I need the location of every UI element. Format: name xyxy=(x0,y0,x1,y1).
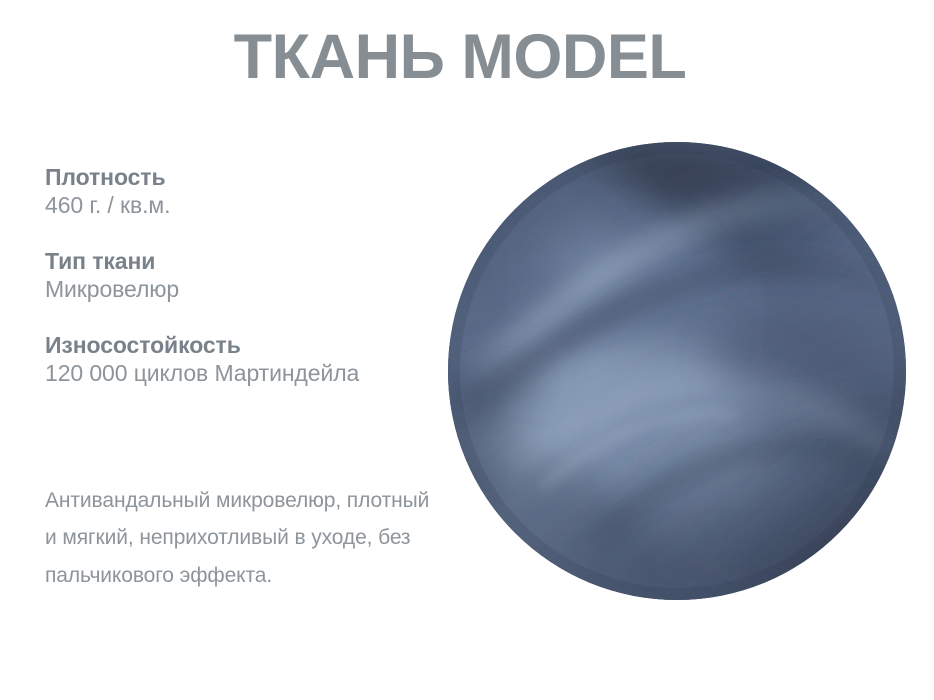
fabric-texture-illustration xyxy=(448,142,906,600)
spec-value-fabric-type: Микровелюр xyxy=(45,275,435,305)
spec-item-fabric-type: Тип ткани Микровелюр xyxy=(45,247,435,305)
spec-item-density: Плотность 460 г. / кв.м. xyxy=(45,163,435,221)
spec-label-fabric-type: Тип ткани xyxy=(45,247,435,275)
page-title: ТКАНЬ MODEL xyxy=(0,22,920,93)
fabric-swatch-photo xyxy=(448,142,906,600)
spec-label-abrasion: Износостойкость xyxy=(45,331,435,359)
fabric-info-card: ТКАНЬ MODEL Плотность 460 г. / кв.м. Тип… xyxy=(0,0,934,700)
specs-list: Плотность 460 г. / кв.м. Тип ткани Микро… xyxy=(45,163,435,389)
spec-label-density: Плотность xyxy=(45,163,435,191)
fabric-description: Антивандальный микровелюр, плотный и мяг… xyxy=(45,482,445,594)
spec-value-abrasion: 120 000 циклов Мартиндейла xyxy=(45,359,435,389)
spec-value-density: 460 г. / кв.м. xyxy=(45,191,435,221)
spec-item-abrasion: Износостойкость 120 000 циклов Мартиндей… xyxy=(45,331,435,389)
